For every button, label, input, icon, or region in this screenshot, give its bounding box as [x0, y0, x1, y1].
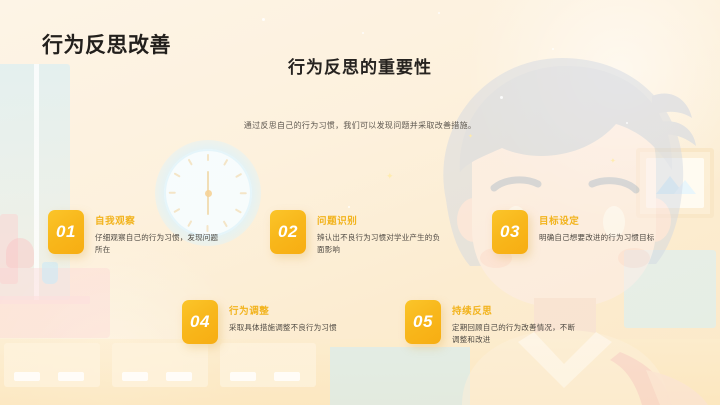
step-title: 目标设定 [539, 213, 667, 227]
content-layer: 行为反思改善 行为反思的重要性 通过反思自己的行为习惯，我们可以发现问题并采取改… [0, 0, 720, 405]
step-number-badge: 05 [405, 300, 441, 344]
step-card-body: 自我观察 仔细观察自己的行为习惯，发现问题所在 [95, 210, 223, 255]
step-card-02[interactable]: 02 问题识别 辨认出不良行为习惯对学业产生的负面影响 [270, 210, 445, 255]
step-number-badge: 03 [492, 210, 528, 254]
step-description: 仔细观察自己的行为习惯，发现问题所在 [95, 232, 223, 255]
step-title: 问题识别 [317, 213, 445, 227]
slide-canvas: ✦ ✦ ✦ 行为反思改善 行为反思的重要性 通过反思自己的行为习惯，我们可以发现… [0, 0, 720, 405]
step-number-badge: 01 [48, 210, 84, 254]
step-number-badge: 04 [182, 300, 218, 344]
step-title: 自我观察 [95, 213, 223, 227]
step-card-body: 问题识别 辨认出不良行为习惯对学业产生的负面影响 [317, 210, 445, 255]
section-heading: 行为反思的重要性 [0, 53, 720, 78]
step-description: 定期回顾自己的行为改善情况，不断调整和改进 [452, 322, 580, 345]
step-description: 辨认出不良行为习惯对学业产生的负面影响 [317, 232, 445, 255]
step-title: 持续反思 [452, 303, 580, 317]
step-card-01[interactable]: 01 自我观察 仔细观察自己的行为习惯，发现问题所在 [48, 210, 223, 255]
step-card-body: 目标设定 明确自己想要改进的行为习惯目标 [539, 210, 667, 244]
step-card-body: 持续反思 定期回顾自己的行为改善情况，不断调整和改进 [452, 300, 580, 345]
step-title: 行为调整 [229, 303, 389, 317]
step-card-04[interactable]: 04 行为调整 采取具体措施调整不良行为习惯 [182, 300, 389, 344]
step-card-05[interactable]: 05 持续反思 定期回顾自己的行为改善情况，不断调整和改进 [405, 300, 580, 345]
step-card-03[interactable]: 03 目标设定 明确自己想要改进的行为习惯目标 [492, 210, 667, 254]
step-description: 采取具体措施调整不良行为习惯 [229, 322, 389, 334]
step-card-body: 行为调整 采取具体措施调整不良行为习惯 [229, 300, 389, 334]
step-description: 明确自己想要改进的行为习惯目标 [539, 232, 667, 244]
lead-paragraph: 通过反思自己的行为习惯，我们可以发现问题并采取改善措施。 [0, 120, 720, 131]
step-number-badge: 02 [270, 210, 306, 254]
